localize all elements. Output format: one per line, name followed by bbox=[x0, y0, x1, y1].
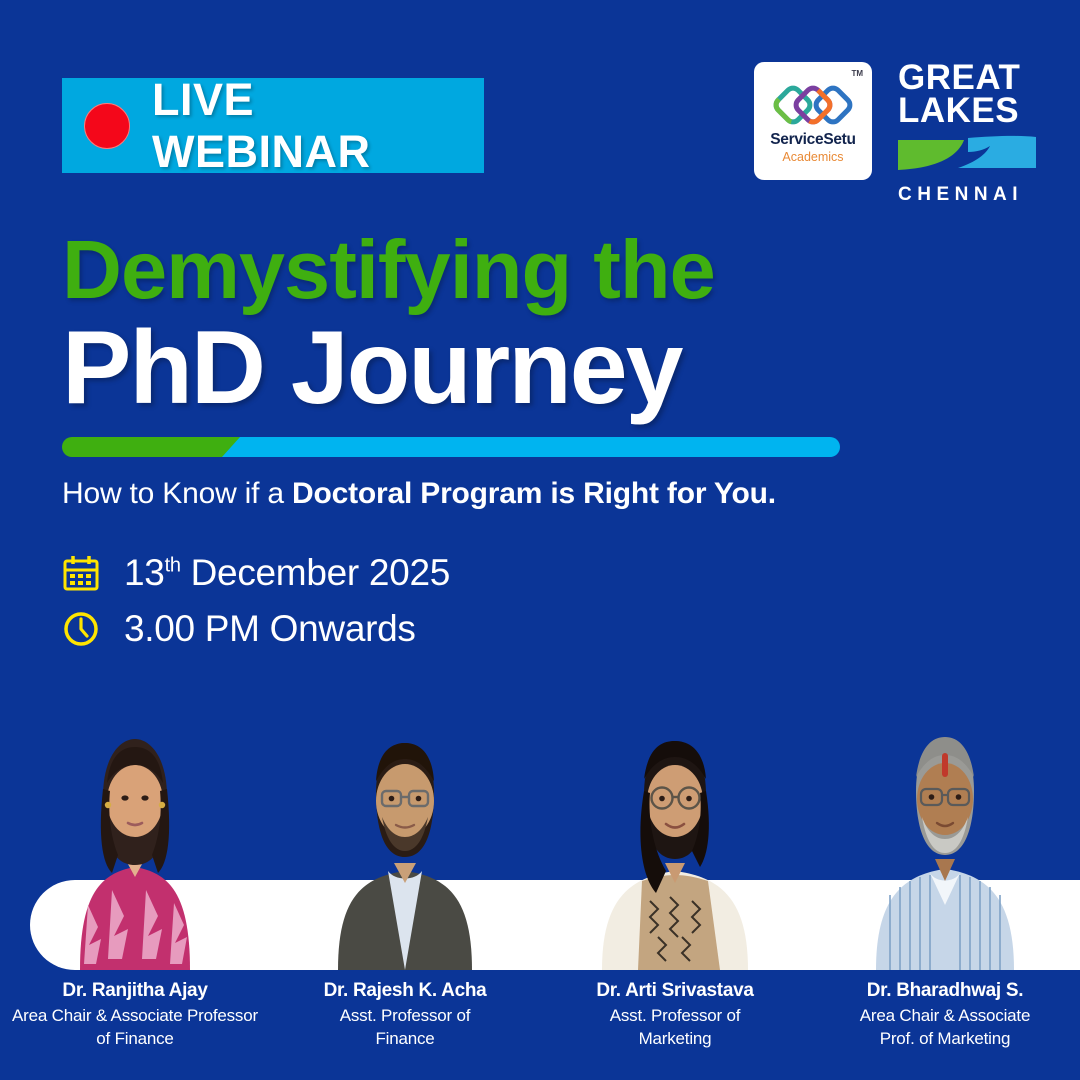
speaker-role-line-1: Asst. Professor of bbox=[278, 1005, 532, 1026]
speaker-photo-bharadhwaj-s bbox=[850, 705, 1040, 970]
speaker-info: Dr. Rajesh K. Acha Asst. Professor of Fi… bbox=[270, 980, 540, 1049]
subtitle: How to Know if a Doctoral Program is Rig… bbox=[62, 477, 776, 511]
event-date-row: 13th December 2025 bbox=[60, 552, 450, 594]
great-lakes-wave-icon bbox=[898, 134, 1036, 174]
live-webinar-label: LIVE WEBINAR bbox=[152, 74, 484, 178]
speaker-name: Dr. Arti Srivastava bbox=[548, 980, 802, 1003]
event-date-text: 13th December 2025 bbox=[124, 552, 450, 594]
speaker-role-line-2: Marketing bbox=[548, 1028, 802, 1049]
title-line-1: Demystifying the bbox=[62, 228, 962, 311]
servicesetu-wordmark: ServiceSetu bbox=[770, 131, 855, 149]
title-accent-bar bbox=[62, 437, 840, 457]
speaker-photo-rajesh-k-acha bbox=[310, 705, 500, 970]
speaker-info: Dr. Ranjitha Ajay Area Chair & Associate… bbox=[0, 980, 270, 1049]
event-details: 13th December 2025 3.00 PM Onwards bbox=[60, 552, 450, 664]
speaker-role-line-2: of Finance bbox=[8, 1028, 262, 1049]
calendar-icon bbox=[60, 552, 102, 594]
speaker-photo-cell bbox=[810, 700, 1080, 970]
speaker-name: Dr. Rajesh K. Acha bbox=[278, 980, 532, 1003]
speaker-photo-row bbox=[0, 700, 1080, 970]
speaker-role-line-2: Finance bbox=[278, 1028, 532, 1049]
trademark-symbol: TM bbox=[851, 69, 863, 78]
event-time-text: 3.00 PM Onwards bbox=[124, 608, 416, 650]
live-record-dot-icon bbox=[84, 103, 130, 149]
speaker-name: Dr. Ranjitha Ajay bbox=[8, 980, 262, 1003]
title-line-2: PhD Journey bbox=[62, 315, 962, 421]
webinar-poster: LIVE WEBINAR TM ServiceSetu Academics GR… bbox=[0, 0, 1080, 1080]
great-lakes-city: CHENNAI bbox=[898, 184, 1038, 206]
speaker-photo-arti-srivastava bbox=[580, 705, 770, 970]
speaker-info: Dr. Arti Srivastava Asst. Professor of M… bbox=[540, 980, 810, 1049]
speaker-photo-ranjitha-ajay bbox=[40, 705, 230, 970]
speaker-role-line-1: Asst. Professor of bbox=[548, 1005, 802, 1026]
speaker-photo-cell bbox=[540, 700, 810, 970]
speaker-name: Dr. Bharadhwaj S. bbox=[818, 980, 1072, 1003]
servicesetu-diamonds-icon bbox=[770, 82, 856, 128]
live-webinar-badge: LIVE WEBINAR bbox=[62, 78, 484, 173]
logo-group: TM ServiceSetu Academics GREAT LAKES CHE bbox=[754, 62, 1038, 206]
speaker-photo-cell bbox=[270, 700, 540, 970]
speaker-role-line-1: Area Chair & Associate Professor bbox=[8, 1005, 262, 1026]
subtitle-emphasis: Doctoral Program is Right for You. bbox=[292, 477, 776, 510]
clock-icon bbox=[60, 608, 102, 650]
great-lakes-line2: LAKES bbox=[898, 95, 1038, 128]
event-time-row: 3.00 PM Onwards bbox=[60, 608, 450, 650]
great-lakes-logo: GREAT LAKES CHENNAI bbox=[898, 62, 1038, 206]
servicesetu-logo: TM ServiceSetu Academics bbox=[754, 62, 872, 180]
speaker-photo-cell bbox=[0, 700, 270, 970]
subtitle-prefix: How to Know if a bbox=[62, 477, 292, 510]
title-block: Demystifying the PhD Journey bbox=[62, 228, 962, 421]
great-lakes-line1: GREAT bbox=[898, 62, 1038, 95]
speaker-names-row: Dr. Ranjitha Ajay Area Chair & Associate… bbox=[0, 980, 1080, 1049]
servicesetu-subtitle: Academics bbox=[782, 150, 843, 164]
speaker-role-line-2: Prof. of Marketing bbox=[818, 1028, 1072, 1049]
speaker-role-line-1: Area Chair & Associate bbox=[818, 1005, 1072, 1026]
speaker-info: Dr. Bharadhwaj S. Area Chair & Associate… bbox=[810, 980, 1080, 1049]
